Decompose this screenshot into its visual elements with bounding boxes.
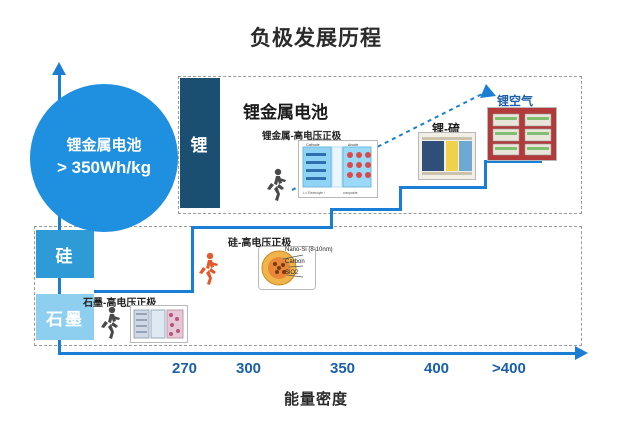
x-axis-label: 能量密度	[0, 388, 632, 409]
svg-text:Anode: Anode	[348, 143, 358, 147]
silicon-annotation-2: SiO2	[285, 270, 333, 278]
category-label-graphite: 石墨	[46, 305, 84, 330]
svg-text:composite: composite	[343, 191, 358, 195]
diagram-canvas: 负极发展历程 锂 硅 石墨 锂金属电池 > 350Wh/kg 锂金属电池 锂金属…	[0, 0, 632, 448]
category-block-silicon: 硅	[36, 230, 94, 278]
image-graphite-cell	[130, 305, 188, 343]
x-tick-4: >400	[492, 360, 526, 377]
silicon-annotation-0: Nano-Si (8-10nm)	[285, 247, 333, 255]
arrow-up-icon	[52, 62, 66, 75]
runner-icon	[266, 168, 288, 202]
step-riser-silicon-lithium	[330, 208, 333, 229]
runner-icon	[198, 252, 220, 286]
svg-text:Li / Electrolyte /: Li / Electrolyte /	[303, 191, 325, 195]
x-tick-2: 350	[330, 360, 355, 377]
arrow-right-icon	[575, 346, 588, 360]
highlight-circle-line2: > 350Wh/kg	[57, 157, 151, 180]
page-title: 负极发展历程	[0, 22, 632, 52]
image-lithium-air-cell	[487, 107, 557, 161]
step-line-lithium	[330, 208, 402, 211]
step-line-silicon	[191, 226, 333, 229]
step-line-graphite	[94, 290, 194, 293]
x-axis	[58, 352, 578, 355]
category-block-lithium: 锂	[180, 78, 220, 208]
highlight-circle-line1: 锂金属电池	[66, 136, 141, 156]
category-label-lithium: 锂	[191, 131, 210, 156]
x-tick-1: 300	[236, 360, 261, 377]
stage-heading-lithium-metal: 锂金属电池	[243, 98, 328, 123]
image-lithium-metal-cell: Cathode Anode Li / Electrolyte / composi…	[298, 140, 378, 198]
category-label-silicon: 硅	[56, 242, 75, 267]
image-lithium-sulfur-cell	[418, 132, 476, 180]
silicon-annotation-1: Carbon	[285, 259, 333, 267]
runner-icon	[100, 306, 122, 340]
x-tick-3: 400	[424, 360, 449, 377]
svg-text:Cathode: Cathode	[306, 143, 320, 147]
x-tick-0: 270	[172, 360, 197, 377]
silicon-annotations: Nano-Si (8-10nm) Carbon SiO2	[285, 247, 333, 278]
highlight-circle: 锂金属电池 > 350Wh/kg	[30, 84, 178, 232]
step-riser-graphite-silicon	[191, 226, 194, 293]
